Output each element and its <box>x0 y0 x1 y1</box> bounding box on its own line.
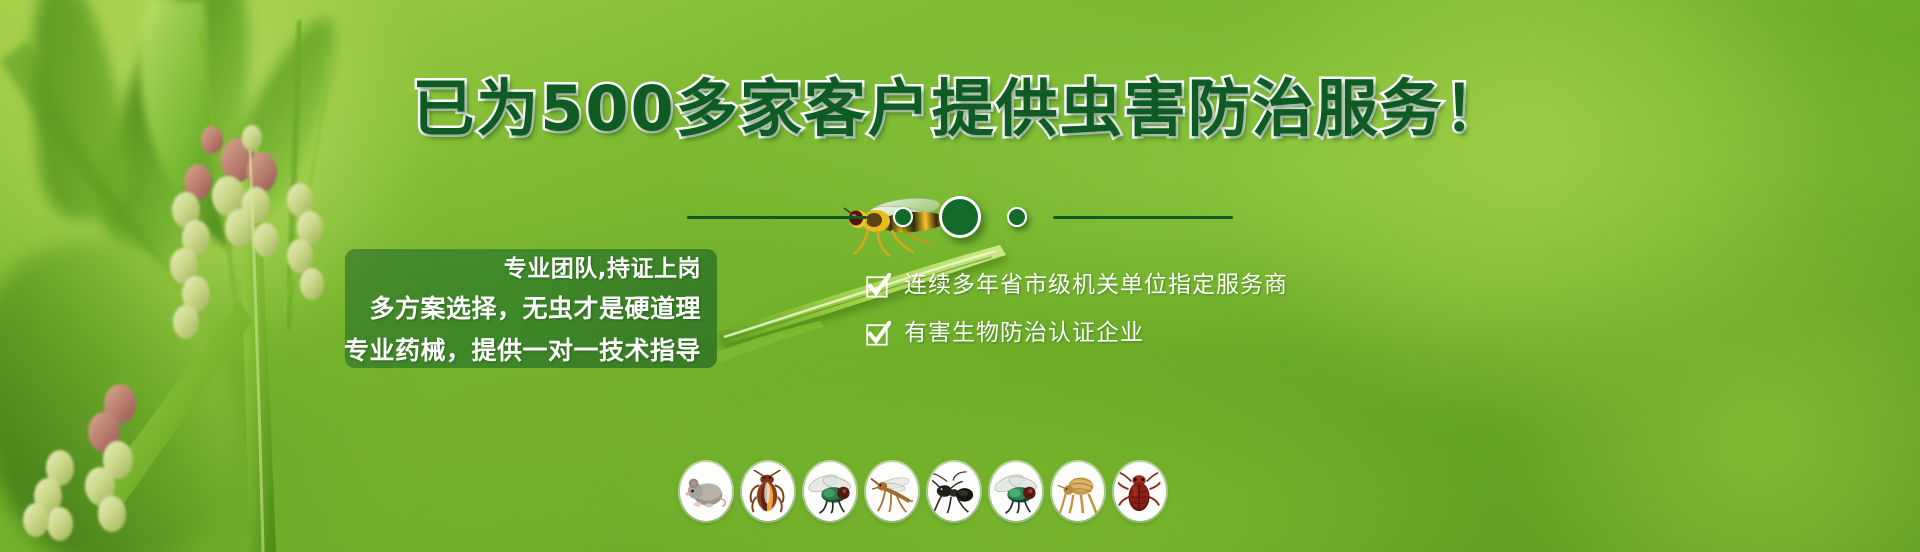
checkbox-checked-icon <box>866 321 891 346</box>
claim-line-3: 专业药械，提供一对一技术指导 <box>344 332 701 370</box>
mosquito-icon[interactable] <box>866 462 918 521</box>
claims-panel: 专业团队,持证上岗 多方案选择，无虫才是硬道理 专业药械，提供一对一技术指导 <box>345 249 717 368</box>
divider-dot-large <box>939 196 981 238</box>
checklist-item-label: 有害生物防治认证企业 <box>904 320 1144 346</box>
banner-headline: 已为500多家客户提供虫害防治服务！ <box>0 76 1920 142</box>
blowfly-icon[interactable] <box>990 462 1042 521</box>
bedbug-icon[interactable] <box>1114 462 1166 521</box>
checklist-item-label: 连续多年省市级机关单位指定服务商 <box>904 272 1288 298</box>
credentials-checklist: 连续多年省市级机关单位指定服务商 有害生物防治认证企业 <box>866 272 1288 346</box>
claim-line-1: 专业团队,持证上岗 <box>504 252 701 286</box>
banner-headline-text: 已为500多家客户提供虫害防治服务！ <box>412 72 1507 145</box>
divider-line-right <box>1053 216 1233 219</box>
cockroach-icon[interactable] <box>742 462 794 521</box>
decorative-divider <box>0 196 1920 238</box>
checklist-item: 连续多年省市级机关单位指定服务商 <box>866 272 1288 298</box>
blurred-grass-blade <box>0 215 266 552</box>
ant-icon[interactable] <box>928 462 980 521</box>
divider-line-left <box>687 216 867 219</box>
checkbox-checked-icon <box>866 273 891 298</box>
divider-dot-small-right <box>1007 207 1027 227</box>
flea-icon[interactable] <box>1052 462 1104 521</box>
rodent-mouse-icon[interactable] <box>680 462 732 521</box>
housefly-icon[interactable] <box>804 462 856 521</box>
pest-control-hero-banner: 已为500多家客户提供虫害防治服务！ 专业团队,持证上岗 多方案选择，无虫才是硬… <box>0 0 1920 552</box>
divider-dot-small-left <box>893 207 913 227</box>
pest-types-icon-row <box>680 462 1166 521</box>
checklist-item: 有害生物防治认证企业 <box>866 320 1288 346</box>
claim-line-2: 多方案选择，无虫才是硬道理 <box>369 290 701 328</box>
background-bokeh <box>1450 230 1920 552</box>
